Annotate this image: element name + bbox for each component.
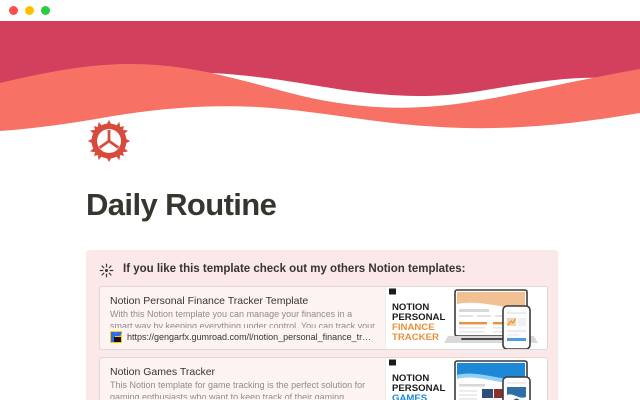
bookmark-description: With this Notion template you can manage… — [110, 308, 376, 328]
callout-header: If you like this template check out my o… — [86, 260, 558, 278]
bookmark-title: Notion Personal Finance Tracker Template — [110, 294, 376, 306]
bookmark-card-body: Notion Personal Finance Tracker Template… — [100, 287, 385, 349]
notion-page: Daily Routine — [0, 110, 640, 400]
maximize-button[interactable] — [41, 6, 50, 15]
bookmark-card[interactable]: Notion Games Tracker This Notion templat… — [99, 357, 548, 400]
bookmark-card-list: Notion Personal Finance Tracker Template… — [86, 286, 558, 400]
bookmark-url-row: https://gengarfx.gumroad.com/l/notion_pe… — [110, 331, 376, 343]
page-title: Daily Routine — [86, 186, 580, 224]
notion-personal-games-tracker-thumbnail: NOTION PERSONAL GAMES TRACKER — [385, 358, 547, 400]
bookmark-url: https://gengarfx.gumroad.com/l/notion_pe… — [127, 331, 376, 343]
svg-text:GAMES: GAMES — [392, 393, 428, 400]
bookmark-card[interactable]: Notion Personal Finance Tracker Template… — [99, 286, 548, 350]
window-titlebar — [0, 0, 640, 21]
gear-icon[interactable] — [86, 118, 132, 164]
callout-text: If you like this template check out my o… — [123, 262, 466, 277]
close-button[interactable] — [9, 6, 18, 15]
traffic-light-controls — [9, 6, 50, 15]
sparkle-icon — [99, 263, 114, 278]
minimize-button[interactable] — [25, 6, 34, 15]
bookmark-card-body: Notion Games Tracker This Notion templat… — [100, 358, 385, 400]
callout-block: If you like this template check out my o… — [86, 250, 558, 400]
bookmark-title: Notion Games Tracker — [110, 365, 376, 377]
notion-personal-finance-tracker-thumbnail: NOTION PERSONAL FINANCE TRACKER — [385, 287, 547, 349]
gumroad-favicon — [110, 331, 122, 343]
svg-text:TRACKER: TRACKER — [392, 332, 439, 343]
bookmark-description: This Notion template for game tracking i… — [110, 379, 376, 399]
browser-window: Daily Routine — [0, 0, 640, 400]
